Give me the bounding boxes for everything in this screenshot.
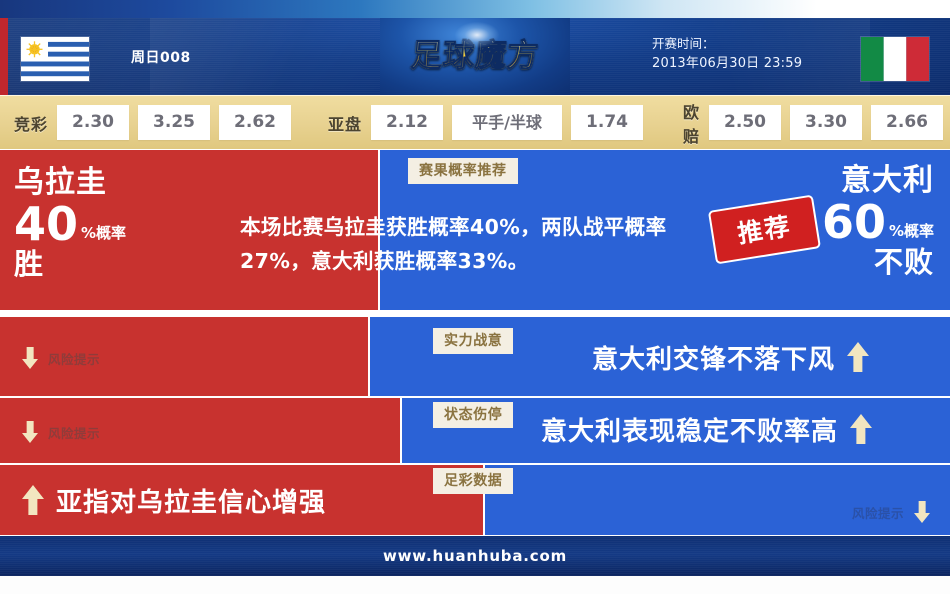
section-chip-betting-data: 足彩数据 (433, 468, 513, 494)
odds-cell[interactable]: 1.74 (571, 105, 643, 140)
odds-cell[interactable]: 3.25 (138, 105, 210, 140)
odds-cell[interactable]: 3.30 (790, 105, 862, 140)
section-chip-form: 状态伤停 (433, 402, 513, 428)
away-probability-unit: %概率 (889, 224, 934, 239)
top-sky-strip (0, 0, 950, 18)
analysis-text: 本场比赛乌拉圭获胜概率40%，两队战平概率27%，意大利获胜概率33%。 (240, 210, 680, 278)
home-probability-value: 40 (14, 202, 78, 246)
home-team-block: 乌拉圭 40 %概率 胜 (14, 166, 126, 280)
row3-right-note: 风险提示 (852, 500, 930, 524)
row1-left-text: 风险提示 (48, 349, 100, 368)
row1-left-note: 风险提示 (22, 346, 100, 370)
odds-group-yapan: 亚盘 2.12 平手/半球 1.74 (328, 96, 652, 149)
home-probability-unit: %概率 (81, 226, 126, 241)
odds-group-label: 亚盘 (328, 111, 362, 135)
home-team-name: 乌拉圭 (14, 166, 126, 200)
site-logo-text: 足球魔方 (410, 41, 540, 72)
home-outcome-label: 胜 (14, 248, 126, 280)
odds-cell[interactable]: 2.62 (219, 105, 291, 140)
recommend-stamp-text: 推荐 (736, 213, 793, 246)
away-team-name: 意大利 (822, 164, 934, 198)
arrow-down-icon (22, 347, 38, 369)
arrow-up-icon (850, 414, 872, 444)
arrow-up-icon (847, 342, 869, 372)
row1-right-note: 意大利交锋不落下风 (592, 340, 869, 374)
section-chip-strength: 实力战意 (433, 328, 513, 354)
odds-group-label: 竞彩 (14, 111, 48, 135)
away-probability-value: 60 (822, 200, 886, 244)
row3-left-note: 亚指对乌拉圭信心增强 (22, 483, 326, 517)
odds-cell[interactable]: 2.30 (57, 105, 129, 140)
row1-right-text: 意大利交锋不落下风 (592, 339, 835, 376)
odds-cell[interactable]: 2.66 (871, 105, 943, 140)
section-chip-result-probability: 赛果概率推荐 (408, 158, 518, 184)
odds-bar: 竞彩 2.30 3.25 2.62 亚盘 2.12 平手/半球 1.74 欧赔 … (0, 95, 950, 149)
arrow-up-icon (22, 485, 44, 515)
italy-flag-icon (861, 37, 929, 81)
arrow-down-icon (22, 421, 38, 443)
header-red-accent (0, 18, 8, 95)
row2-left-note: 风险提示 (22, 420, 100, 444)
kickoff-value: 2013年06月30日 23:59 (652, 54, 852, 74)
away-outcome-label: 不败 (822, 246, 934, 278)
footer-bottom-strip (0, 576, 950, 594)
away-team-block: 意大利 60 %概率 不败 (822, 164, 934, 278)
odds-group-label: 欧赔 (683, 99, 700, 147)
site-logo: 足球魔方 (380, 18, 570, 95)
uruguay-flag-icon (21, 37, 89, 81)
odds-cell-handicap[interactable]: 平手/半球 (452, 105, 562, 140)
match-number: 周日008 (131, 40, 351, 76)
site-url[interactable]: www.huanhuba.com (383, 547, 567, 565)
row3-right-text: 风险提示 (852, 503, 904, 522)
odds-cell[interactable]: 2.50 (709, 105, 781, 140)
kickoff-block: 开赛时间： 2013年06月30日 23:59 (652, 34, 852, 74)
row2-right-text: 意大利表现稳定不败率高 (541, 411, 838, 448)
row2-left-text: 风险提示 (48, 423, 100, 442)
footer-bar: www.huanhuba.com (0, 536, 950, 576)
odds-group-oupei: 欧赔 2.50 3.30 2.66 (683, 96, 950, 149)
prediction-infographic: 周日008 足球魔方 开赛时间： 2013年06月30日 23:59 竞彩 2.… (0, 0, 950, 594)
odds-group-jingcai: 竞彩 2.30 3.25 2.62 (14, 96, 300, 149)
row3-left-text: 亚指对乌拉圭信心增强 (56, 482, 326, 519)
kickoff-label: 开赛时间： (652, 34, 852, 54)
arrow-down-icon (914, 501, 930, 523)
row2-right-note: 意大利表现稳定不败率高 (541, 412, 872, 446)
odds-cell[interactable]: 2.12 (371, 105, 443, 140)
